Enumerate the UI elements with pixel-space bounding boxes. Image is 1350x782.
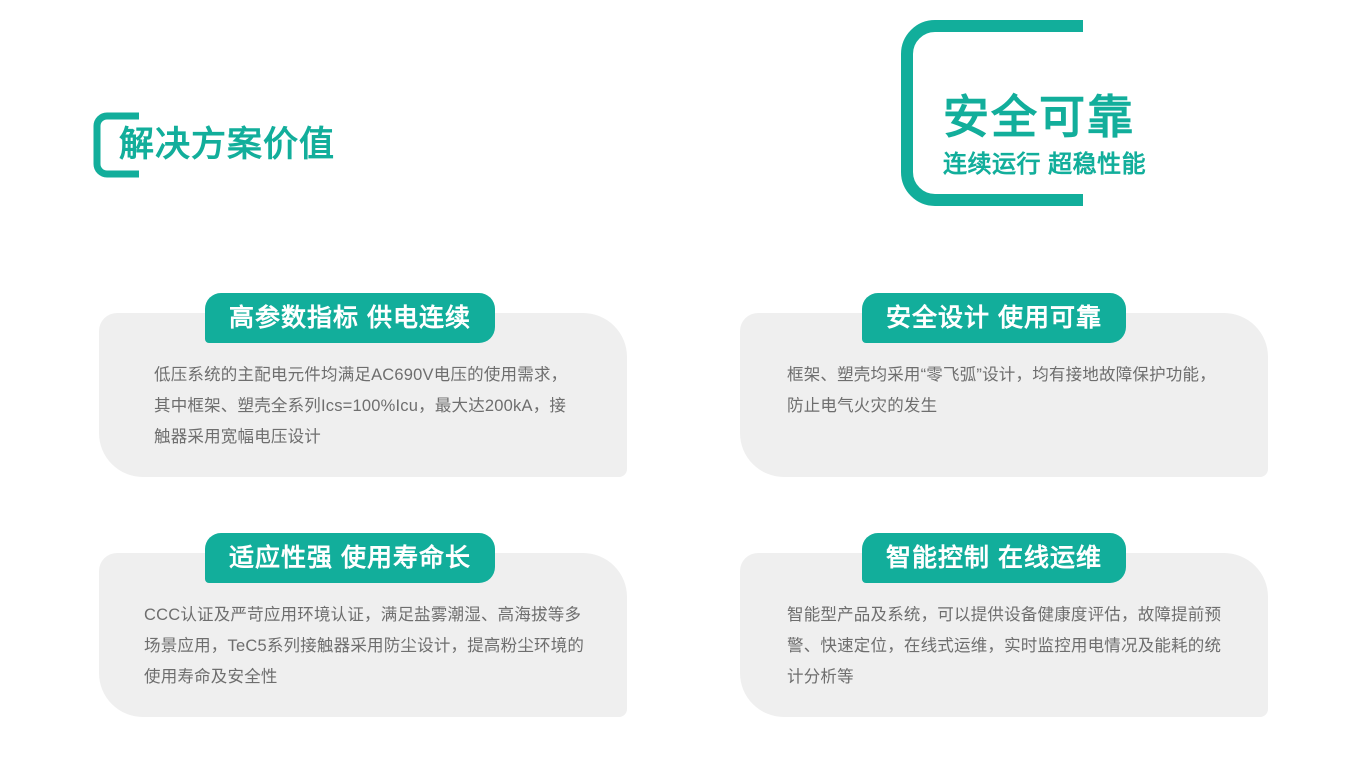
value-card-title: 安全设计 使用可靠	[886, 303, 1102, 333]
value-card-title: 适应性强 使用寿命长	[229, 543, 471, 573]
value-card-title: 高参数指标 供电连续	[229, 303, 471, 333]
value-card-body: 框架、塑壳均采用“零飞弧”设计，均有接地故障保护功能，防止电气火灾的发生	[787, 360, 1227, 422]
value-card: 智能控制 在线运维 智能型产品及系统，可以提供设备健康度评估，故障提前预警、快速…	[740, 553, 1268, 717]
value-card: 安全设计 使用可靠 框架、塑壳均采用“零飞弧”设计，均有接地故障保护功能，防止电…	[740, 313, 1268, 477]
value-card-body: CCC认证及严苛应用环境认证，满足盐雾潮湿、高海拔等多场景应用，TeC5系列接触…	[144, 600, 594, 693]
value-card: 高参数指标 供电连续 低压系统的主配电元件均满足AC690V电压的使用需求，其中…	[99, 313, 627, 477]
value-card-body: 低压系统的主配电元件均满足AC690V电压的使用需求，其中框架、塑壳全系列Ics…	[154, 360, 579, 453]
value-card: 适应性强 使用寿命长 CCC认证及严苛应用环境认证，满足盐雾潮湿、高海拔等多场景…	[99, 553, 627, 717]
value-card-body: 智能型产品及系统，可以提供设备健康度评估，故障提前预警、快速定位，在线式运维，实…	[787, 600, 1227, 693]
value-cards-grid: 高参数指标 供电连续 低压系统的主配电元件均满足AC690V电压的使用需求，其中…	[0, 0, 1350, 782]
value-card-header: 智能控制 在线运维	[862, 533, 1126, 583]
value-card-header: 适应性强 使用寿命长	[205, 533, 495, 583]
value-card-header: 安全设计 使用可靠	[862, 293, 1126, 343]
value-card-title: 智能控制 在线运维	[886, 543, 1102, 573]
value-card-header: 高参数指标 供电连续	[205, 293, 495, 343]
